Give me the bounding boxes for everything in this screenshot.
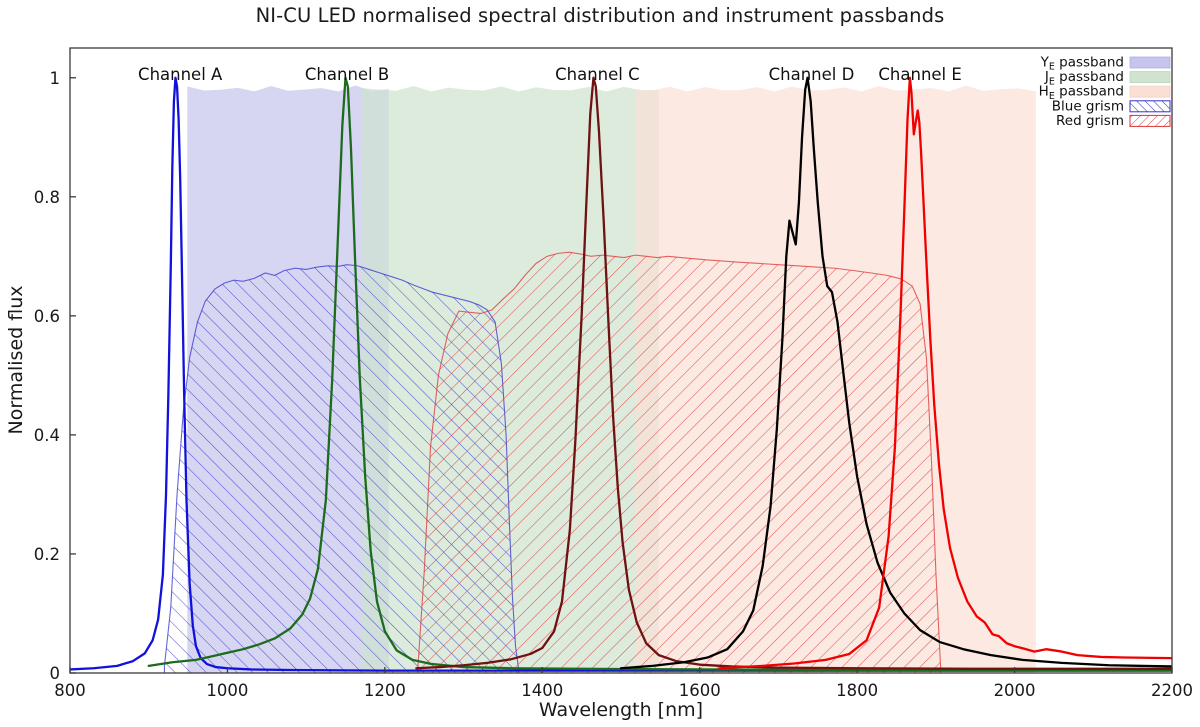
x-tick-label: 1000 — [206, 681, 248, 700]
legend-swatch — [1130, 57, 1170, 68]
x-tick-label: 1400 — [521, 681, 563, 700]
legend-swatch — [1130, 101, 1170, 112]
y-axis-label: Normalised flux — [5, 286, 27, 435]
grism-bands — [164, 252, 940, 673]
y-tick-label: 0.2 — [34, 545, 60, 564]
x-tick-label: 1600 — [679, 681, 721, 700]
legend-label: Red grism — [1056, 113, 1124, 129]
annotation-channel-d: Channel D — [769, 65, 855, 84]
y-tick-label: 0.4 — [34, 426, 60, 445]
annotation-channel-e: Channel E — [878, 65, 961, 84]
legend-label: Blue grism — [1052, 98, 1124, 114]
channel-labels: Channel AChannel BChannel CChannel DChan… — [138, 65, 962, 84]
annotation-channel-b: Channel B — [305, 65, 389, 84]
legend-swatch — [1130, 72, 1170, 83]
chart-legend: YE passbandJE passbandHE passbandBlue gr… — [1039, 55, 1170, 129]
y-tick-label: 0.8 — [34, 188, 60, 207]
legend-swatch — [1130, 115, 1170, 126]
annotation-channel-c: Channel C — [555, 65, 640, 84]
x-tick-label: 1200 — [364, 681, 406, 700]
y-tick-label: 0 — [50, 664, 61, 683]
x-tick-label: 800 — [54, 681, 86, 700]
x-axis-label: Wavelength [nm] — [539, 699, 703, 721]
spectral-distribution-chart: Channel AChannel BChannel CChannel DChan… — [0, 0, 1200, 727]
y-tick-label: 1 — [50, 69, 61, 88]
y-tick-label: 0.6 — [34, 307, 60, 326]
grism-fill-red-grism — [418, 252, 941, 673]
x-tick-label: 2200 — [1151, 681, 1193, 700]
x-tick-label: 1800 — [836, 681, 878, 700]
legend-swatch — [1130, 86, 1170, 97]
annotation-channel-a: Channel A — [138, 65, 223, 84]
figure: NI-CU LED normalised spectral distributi… — [0, 0, 1200, 727]
x-tick-label: 2000 — [994, 681, 1036, 700]
